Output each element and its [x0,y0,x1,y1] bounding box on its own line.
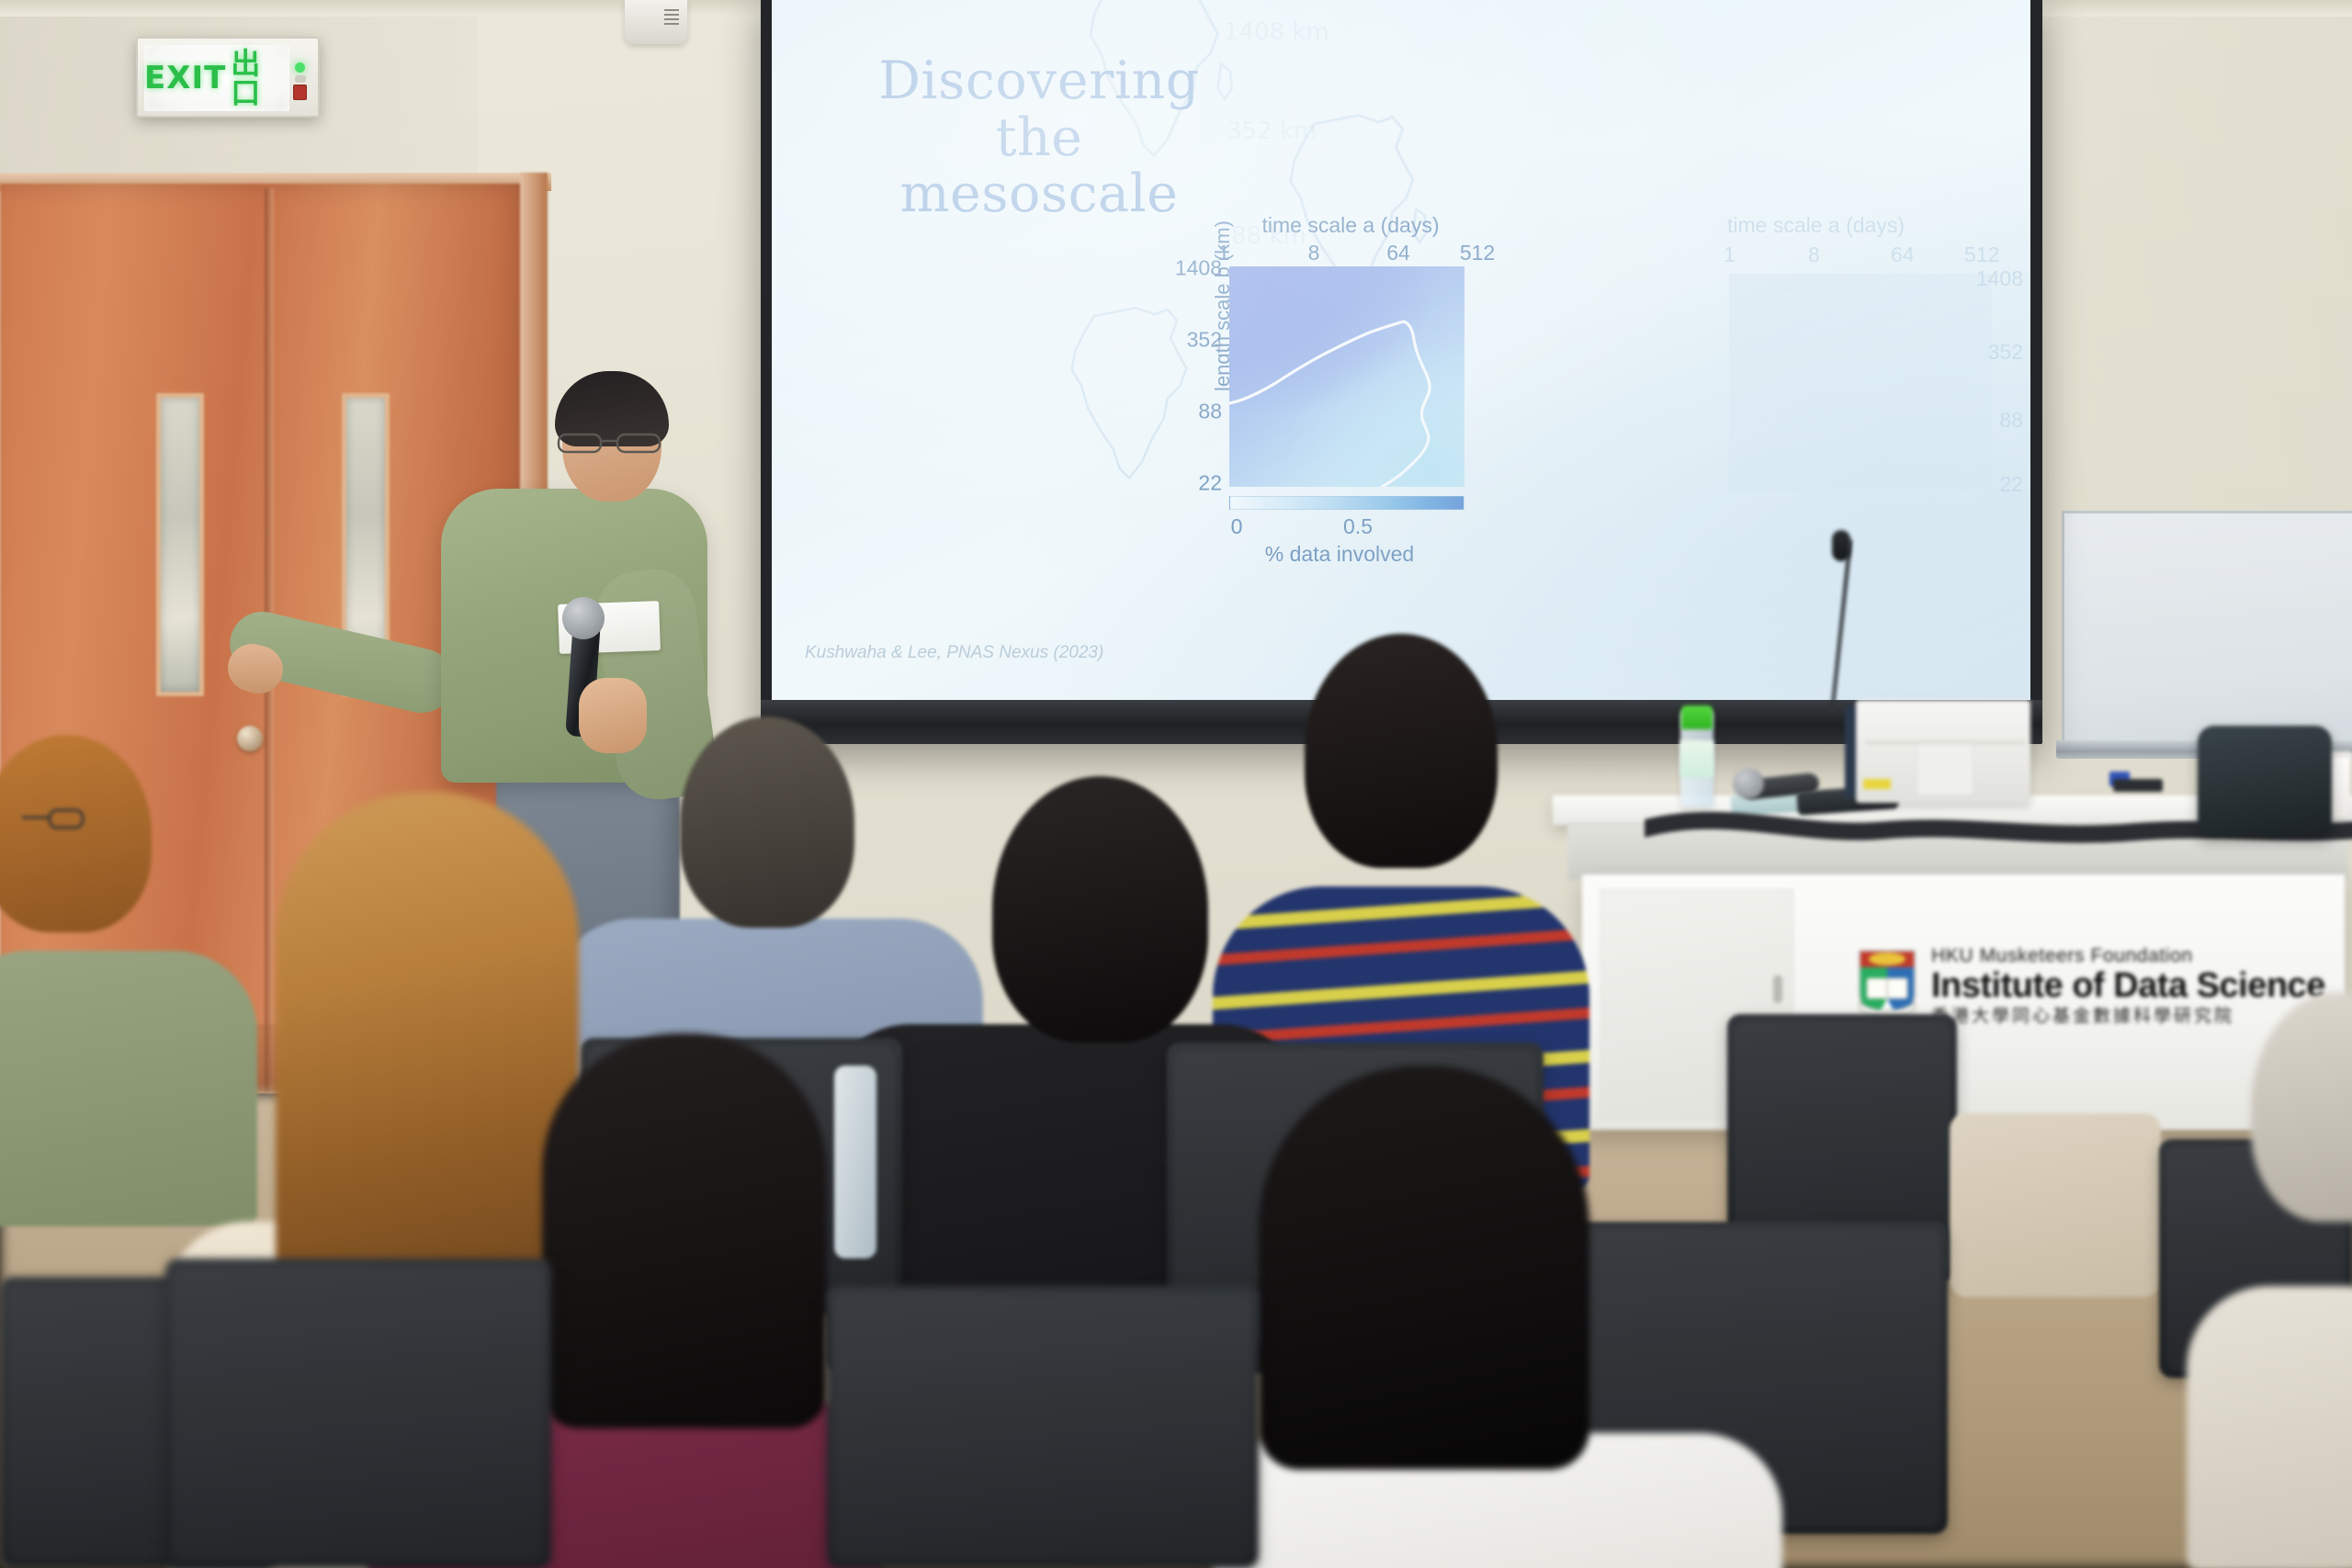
chair-back[interactable] [165,1258,551,1568]
xtick-8: 8 [1308,241,1320,265]
colorbar-ticks: 0 0.5 [1229,514,1464,538]
exit-sign-led-icon [295,62,305,73]
chart-colorbar [1229,496,1464,510]
chart-xlabel: time scale a (days) [1213,213,1488,238]
door-handle[interactable] [237,726,263,751]
presenter-right-hand [579,678,647,753]
slide-title: Discovering the mesoscale [842,53,1237,223]
cbtick-0.5: 0.5 [1343,514,1373,539]
ghost-ytick-88: 88 [1999,408,2023,433]
exit-sign-label-zh: 出口 [231,49,289,107]
attendee-6-head [542,1033,827,1428]
attendee-2-hair [276,792,579,1306]
colorbar-label: % data involved [1202,542,1477,567]
water-bottle-cap[interactable] [1681,705,1713,729]
chart-xticks: 1 8 64 512 [1213,241,1488,265]
chair-back[interactable] [827,1286,1259,1568]
xtick-64: 64 [1386,241,1410,265]
xtick-512: 512 [1460,241,1495,265]
logo-line-institute: Institute of Data Science [1931,968,2325,1003]
desk-microphone-head-icon [1733,768,1764,799]
ytick-88: 88 [1198,400,1222,424]
presenter-microphone-head-icon [562,597,605,639]
exit-sign-panel: EXIT 出口 [144,45,289,111]
attendee-7-head [1259,1066,1589,1470]
ghost-label-352km: 352 km [1227,118,1317,145]
ghost-xtick-1: 1 [1724,243,1736,267]
ghost-label-1408km: 1408 km [1224,18,1329,46]
whiteboard [2062,511,2352,757]
ytick-352: 352 [1187,328,1222,353]
attendee-3-head [680,716,854,928]
eyeglasses-icon [0,807,86,834]
ghost-xtick-512: 512 [1964,243,1999,267]
lecture-hall-scene: EXIT 出口 1408 km 352 km 88 k [0,0,2352,1568]
av-monitor-sticker [1863,779,1891,789]
exit-sign-test-button[interactable] [293,85,307,100]
smoke-detector-icon [625,0,687,44]
logo-line-chinese: 香港大學同心基金數據科學研究院 [1931,1008,2325,1025]
cbtick-0: 0 [1231,514,1243,539]
logo-line-foundation: HKU Musketeers Foundation [1931,946,2325,965]
gooseneck-microphone-capsule-icon [1832,530,1850,561]
attendee-4-head [992,776,1208,1043]
attendee-5-head [1305,634,1498,868]
ghost-ytick-1408: 1408 [1976,266,2023,291]
attendee-1-torso [0,951,257,1226]
ghost-duplicate-chart: time scale a (days) 1 8 64 512 1408 352 … [1690,213,2021,516]
podium-cabinet-handle[interactable] [1773,976,1782,1003]
door-vision-panel-left [156,393,204,696]
contour-line [1229,266,1464,487]
ghost-ytick-22: 22 [1999,472,2023,497]
eyeglasses-icon [555,432,665,454]
institute-logo-text: HKU Musketeers Foundation Institute of D… [1931,946,2325,1025]
ghost-xtick-64: 64 [1891,243,1915,267]
ghost-chart-plot [1729,274,1992,491]
exit-sign-label-en: EXIT [144,62,226,94]
heatmap-plot-area [1229,266,1464,487]
water-bottle-label [1680,740,1713,777]
ghost-chart-xlabel: time scale a (days) [1727,213,1905,238]
ghost-ytick-352: 352 [1988,340,2023,365]
attendee-8-torso [2187,1286,2352,1568]
hku-crest-icon [1856,947,1918,1024]
slide-title-line-2: the [842,110,1237,167]
chart-yticks: 1408 352 88 22 [1165,266,1222,485]
av-monitor-plate [1917,744,1973,795]
mesoscale-heatmap-figure: time scale a (days) 1 8 64 512 length sc… [1169,213,1499,525]
presentation-clicker[interactable] [2113,779,2163,792]
exit-sign-test-knob[interactable] [295,75,306,83]
ghost-xtick-8: 8 [1808,243,1820,267]
ytick-1408: 1408 [1175,256,1222,281]
draped-coat [1950,1113,2161,1297]
ytick-22: 22 [1198,471,1222,496]
slide-title-line-1: Discovering [842,53,1237,110]
exit-sign: EXIT 出口 [136,37,320,118]
chair-water-bottle[interactable] [834,1066,876,1258]
office-chair-backrest[interactable] [2198,726,2332,836]
slide-citation: Kushwaha & Lee, PNAS Nexus (2023) [805,643,1103,663]
